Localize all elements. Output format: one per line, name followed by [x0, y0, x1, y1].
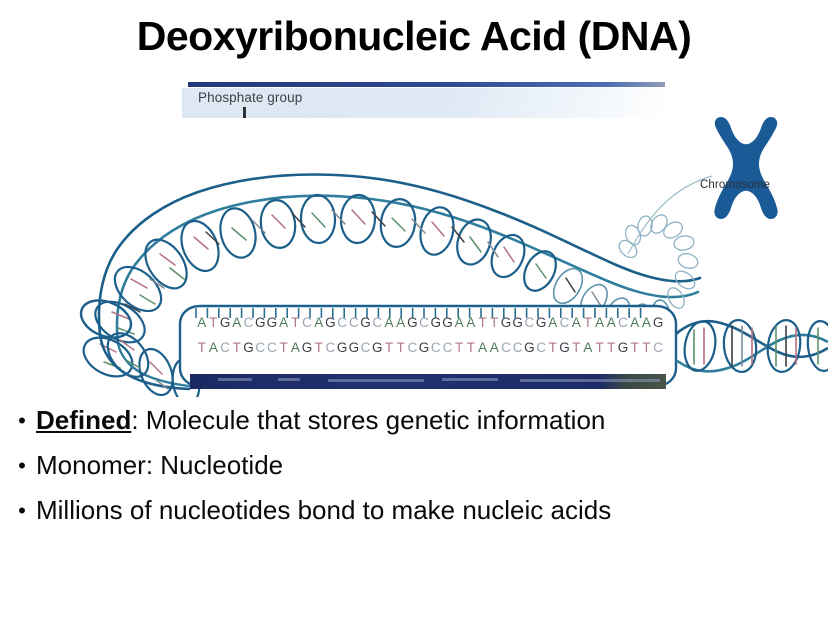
base-T: T — [465, 338, 476, 358]
base-C: C — [255, 338, 266, 358]
base-C: C — [512, 338, 523, 358]
base-C: C — [652, 338, 663, 358]
base-G: G — [500, 313, 511, 333]
base-T: T — [641, 338, 652, 358]
chromosome-icon — [714, 117, 777, 219]
bullet-rest-1: : Molecule that stores genetic informati… — [131, 405, 605, 435]
base-T: T — [571, 338, 582, 358]
base-A: A — [208, 338, 219, 358]
base-T: T — [453, 338, 464, 358]
footer-navy-bar — [190, 374, 666, 389]
base-G: G — [418, 338, 429, 358]
base-A: A — [196, 313, 207, 333]
base-T: T — [395, 338, 406, 358]
base-C: C — [524, 313, 535, 333]
bullet-marker-icon: • — [8, 488, 36, 533]
bullet-item-2: • Monomer: Nucleotide — [8, 443, 820, 488]
base-T: T — [290, 313, 301, 333]
bullet-marker-icon: • — [8, 398, 36, 443]
base-T: T — [606, 338, 617, 358]
base-G: G — [652, 313, 663, 333]
page-title: Deoxyribonucleic Acid (DNA) — [0, 12, 828, 60]
base-G: G — [559, 338, 570, 358]
phosphate-banner-bar — [188, 82, 665, 87]
base-G: G — [535, 313, 546, 333]
bullet-text-3: Millions of nucleotides bond to make nuc… — [36, 488, 611, 533]
base-C: C — [266, 338, 277, 358]
base-A: A — [641, 313, 652, 333]
base-C: C — [407, 338, 418, 358]
base-A: A — [547, 313, 558, 333]
base-C: C — [430, 338, 441, 358]
base-C: C — [617, 313, 628, 333]
dna-sequence-top-strand: ATGACGGATCAGCCGCAAGCGGAATTGGCGACATAACAAG — [196, 313, 664, 333]
base-A: A — [231, 313, 242, 333]
bullet-text-1: Defined: Molecule that stores genetic in… — [36, 398, 605, 443]
dna-sequence-bottom-strand: TACTGCCTAGTCGGCGTTCGCCTTAACCGCTGTATTGTTC — [196, 338, 664, 358]
base-G: G — [266, 313, 277, 333]
base-C: C — [500, 338, 511, 358]
base-G: G — [301, 338, 312, 358]
base-A: A — [571, 313, 582, 333]
base-T: T — [594, 338, 605, 358]
base-G: G — [442, 313, 453, 333]
base-G: G — [617, 338, 628, 358]
base-G: G — [325, 313, 336, 333]
base-A: A — [489, 338, 500, 358]
helix-unwind-right — [676, 318, 828, 374]
bullet-item-1: • Defined: Molecule that stores genetic … — [8, 398, 820, 443]
base-A: A — [582, 338, 593, 358]
base-T: T — [313, 338, 324, 358]
base-A: A — [313, 313, 324, 333]
base-C: C — [418, 313, 429, 333]
base-A: A — [629, 313, 640, 333]
base-C: C — [336, 313, 347, 333]
base-G: G — [243, 338, 254, 358]
base-G: G — [348, 338, 359, 358]
bullet-list: • Defined: Molecule that stores genetic … — [8, 398, 820, 533]
base-G: G — [512, 313, 523, 333]
base-T: T — [383, 338, 394, 358]
base-T: T — [278, 338, 289, 358]
bullet-text-2: Monomer: Nucleotide — [36, 443, 283, 488]
base-T: T — [629, 338, 640, 358]
base-T: T — [547, 338, 558, 358]
dna-sequence-block: ATGACGGATCAGCCGCAAGCGGAATTGGCGACATAACAAG… — [196, 313, 664, 358]
base-C: C — [360, 338, 371, 358]
base-A: A — [383, 313, 394, 333]
base-C: C — [243, 313, 254, 333]
bullet-item-3: • Millions of nucleotides bond to make n… — [8, 488, 820, 533]
base-G: G — [407, 313, 418, 333]
base-G: G — [524, 338, 535, 358]
base-G: G — [430, 313, 441, 333]
bullet-lead-1: Defined — [36, 405, 131, 435]
base-A: A — [278, 313, 289, 333]
base-G: G — [255, 313, 266, 333]
base-A: A — [606, 313, 617, 333]
bullet-marker-icon: • — [8, 443, 36, 488]
base-C: C — [325, 338, 336, 358]
base-A: A — [453, 313, 464, 333]
base-A: A — [594, 313, 605, 333]
base-T: T — [196, 338, 207, 358]
phosphate-group-label: Phosphate group — [198, 90, 302, 105]
chromosome-label: Chromosome — [700, 179, 770, 191]
base-C: C — [348, 313, 359, 333]
phosphate-pointer-tick — [243, 107, 246, 118]
base-T: T — [477, 313, 488, 333]
base-A: A — [395, 313, 406, 333]
base-G: G — [336, 338, 347, 358]
base-G: G — [360, 313, 371, 333]
base-T: T — [208, 313, 219, 333]
base-T: T — [489, 313, 500, 333]
base-C: C — [442, 338, 453, 358]
base-C: C — [219, 338, 230, 358]
base-T: T — [231, 338, 242, 358]
base-C: C — [301, 313, 312, 333]
base-C: C — [559, 313, 570, 333]
base-A: A — [477, 338, 488, 358]
base-C: C — [372, 313, 383, 333]
base-A: A — [290, 338, 301, 358]
base-G: G — [372, 338, 383, 358]
base-T: T — [582, 313, 593, 333]
base-G: G — [219, 313, 230, 333]
base-C: C — [535, 338, 546, 358]
base-A: A — [465, 313, 476, 333]
